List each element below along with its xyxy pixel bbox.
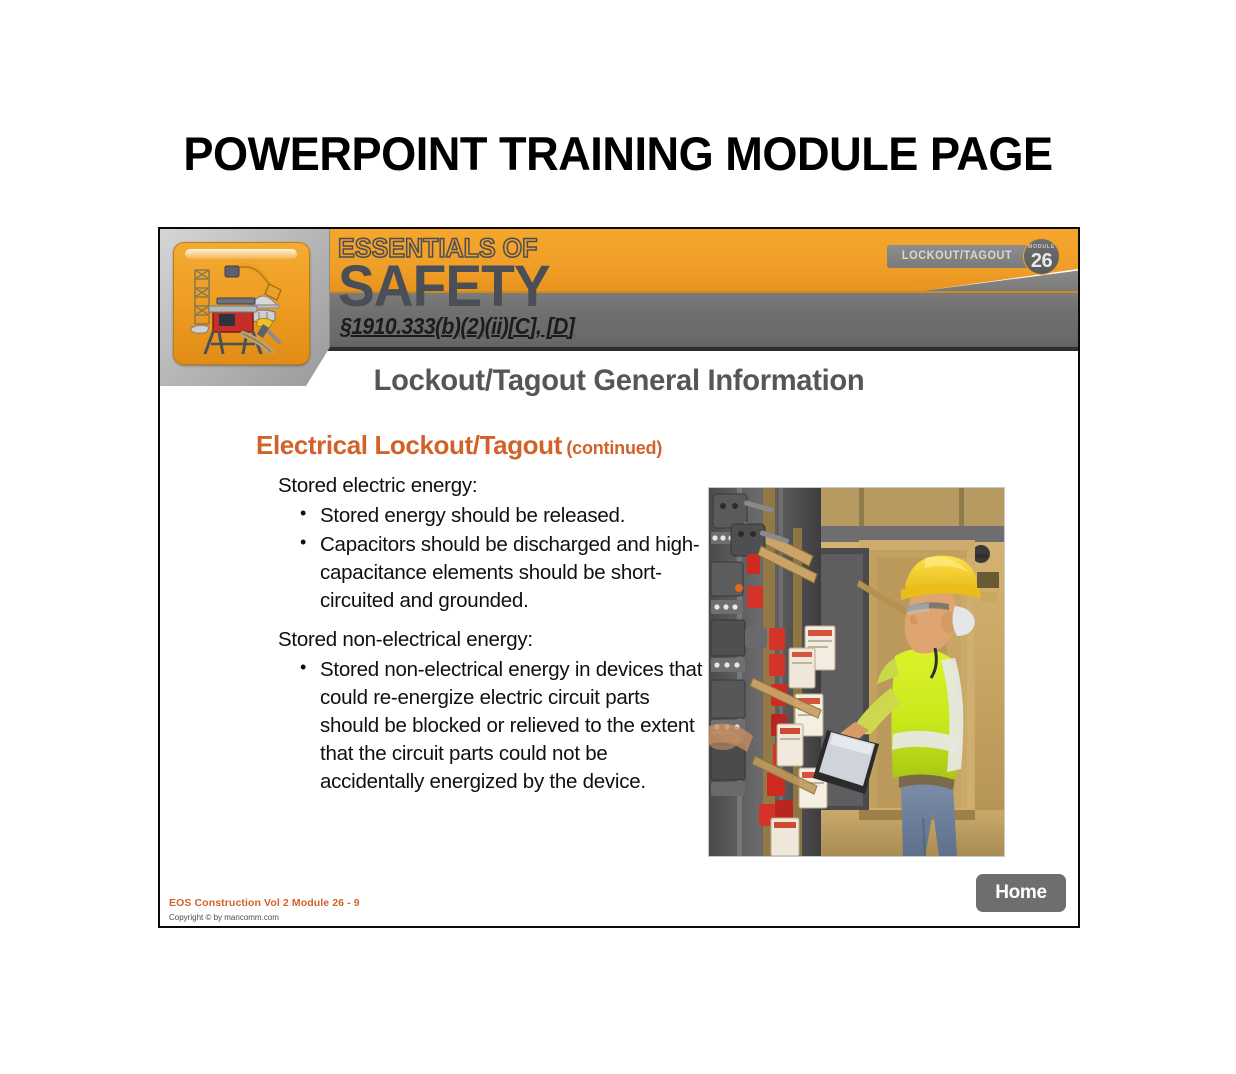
module-badge: LOCKOUT/TAGOUT MODULE 26	[887, 239, 1060, 273]
worker-at-electrical-panel-with-lockout-devices-photo	[708, 487, 1005, 857]
module-badge-word: MODULE	[1028, 243, 1055, 250]
course-icon-plaque	[160, 229, 330, 386]
bullet-list-electric: Stored energy should be released. Capaci…	[278, 502, 723, 615]
module-badge-circle: MODULE 26	[1023, 238, 1060, 275]
list-item: Stored non-electrical energy in devices …	[320, 656, 712, 795]
construction-tools-icon	[189, 262, 295, 359]
body-lead-stored-electric-energy: Stored electric energy:	[278, 472, 723, 499]
page-title: POWERPOINT TRAINING MODULE PAGE	[25, 126, 1212, 181]
essentials-of-safety-logo: ESSENTIALS OF SAFETY	[338, 235, 561, 316]
home-button[interactable]: Home	[976, 874, 1066, 912]
footer-reference-text: EOS Construction Vol 2 Module 26 - 9	[169, 897, 360, 909]
logo-line-safety: SAFETY	[338, 258, 550, 316]
plaque-gloss-highlight	[185, 249, 297, 259]
module-badge-number: 26	[1031, 251, 1052, 271]
module-badge-topic-label: LOCKOUT/TAGOUT	[902, 250, 1012, 262]
body-lead-stored-non-electrical-energy: Stored non-electrical energy:	[278, 626, 723, 653]
bullet-list-non-electrical: Stored non-electrical energy in devices …	[278, 656, 723, 795]
regulation-citation: §1910.333(b)(2)(ii)[C], [D]	[340, 313, 574, 340]
slide-subheading: Electrical Lockout/Tagout (continued)	[256, 430, 662, 461]
powerpoint-slide: ESSENTIALS OF SAFETY §1910.333(b)(2)(ii)…	[158, 227, 1080, 928]
footer-copyright-text: Copyright © by mancomm.com	[169, 913, 279, 922]
subheading-continued-text: (continued)	[566, 438, 662, 458]
list-item: Stored energy should be released.	[320, 502, 723, 530]
slide-heading: Lockout/Tagout General Information	[174, 364, 1064, 398]
home-button-label: Home	[995, 882, 1047, 904]
list-item: Capacitors should be discharged and high…	[320, 531, 723, 615]
slide-body-content: Stored electric energy: Stored energy sh…	[278, 472, 723, 797]
course-icon-plaque-face	[173, 242, 310, 365]
subheading-main-text: Electrical Lockout/Tagout	[256, 430, 562, 460]
